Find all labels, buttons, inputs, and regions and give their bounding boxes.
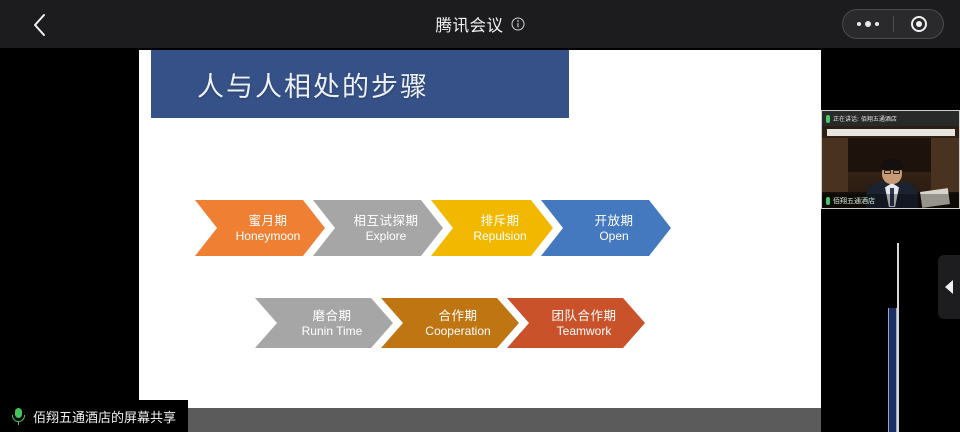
microphone-icon <box>826 197 830 205</box>
top-nav-bar: 腾讯会议 <box>0 0 960 48</box>
process-step-teamwork: 团队合作期Teamwork <box>507 298 645 348</box>
speaking-banner: 正在讲话: 佰翔五通酒店 <box>822 111 960 126</box>
more-dot-2 <box>865 21 871 27</box>
shared-slide[interactable]: 人与人相处的步骤 蜜月期Honeymoon相互试探期Explore排斥期Repu… <box>139 50 821 408</box>
process-step-label-cn: 相互试探期 <box>353 213 418 229</box>
page-title: 腾讯会议 <box>436 12 504 36</box>
close-icon <box>911 16 927 32</box>
process-step-runin-time: 磨合期Runin Time <box>255 298 393 348</box>
process-step-honeymoon: 蜜月期Honeymoon <box>195 200 325 256</box>
screen-share-status-label: 佰翔五通酒店的屏幕共享 <box>33 407 176 426</box>
speaker-video-thumbnail[interactable]: 正在讲话: 佰翔五通酒店 佰翔五通酒店 <box>821 110 960 209</box>
info-circle-icon[interactable] <box>511 17 525 31</box>
close-button[interactable] <box>894 10 943 38</box>
video-overlay-bar <box>827 129 955 136</box>
speaker-glasses-right <box>893 170 900 174</box>
speaking-banner-label: 正在讲话: 佰翔五通酒店 <box>833 114 897 123</box>
more-dot-1 <box>857 22 861 26</box>
process-step-repulsion: 排斥期Repulsion <box>431 200 553 256</box>
process-step-cooperation: 合作期Cooperation <box>381 298 519 348</box>
more-dot-3 <box>875 22 879 26</box>
process-step-open: 开放期Open <box>541 200 671 256</box>
process-step-label-en: Honeymoon <box>236 229 301 244</box>
process-step-label-en: Open <box>599 229 628 244</box>
triangle-left-icon <box>945 280 953 294</box>
miniprogram-capsule <box>842 9 944 39</box>
process-step-label-cn: 开放期 <box>594 213 633 229</box>
process-row-2: 磨合期Runin Time合作期Cooperation团队合作期Teamwork <box>255 298 633 348</box>
process-step-label-en: Cooperation <box>425 324 490 339</box>
participant-name-label: 佰翔五通酒店 <box>833 196 875 206</box>
speaker-hair <box>881 159 903 170</box>
speaker-glasses-left <box>884 170 891 174</box>
process-step-label-en: Explore <box>366 229 407 244</box>
screen-share-stage: 人与人相处的步骤 蜜月期Honeymoon相互试探期Explore排斥期Repu… <box>0 48 960 432</box>
slide-title-banner: 人与人相处的步骤 <box>151 50 569 118</box>
microphone-icon <box>12 408 25 425</box>
process-step-label-en: Runin Time <box>302 324 363 339</box>
microphone-icon <box>826 115 830 123</box>
process-step-label-cn: 排斥期 <box>480 213 519 229</box>
process-step-label-cn: 团队合作期 <box>551 308 616 324</box>
process-step-label-cn: 合作期 <box>438 308 477 324</box>
process-step-label-cn: 磨合期 <box>312 308 351 324</box>
slide-title: 人与人相处的步骤 <box>197 65 429 104</box>
process-step-label-en: Repulsion <box>473 229 526 244</box>
status-bar: 佰翔五通酒店的屏幕共享 <box>0 400 960 432</box>
participant-name-overlay: 佰翔五通酒店 <box>822 194 960 208</box>
nav-title-group: 腾讯会议 <box>0 0 960 48</box>
more-menu-button[interactable] <box>843 10 893 38</box>
process-row-1: 蜜月期Honeymoon相互试探期Explore排斥期Repulsion开放期O… <box>195 200 659 256</box>
process-step-explore: 相互试探期Explore <box>313 200 443 256</box>
side-panel-handle[interactable] <box>938 255 960 319</box>
process-step-label-en: Teamwork <box>557 324 612 339</box>
process-step-label-cn: 蜜月期 <box>248 213 287 229</box>
